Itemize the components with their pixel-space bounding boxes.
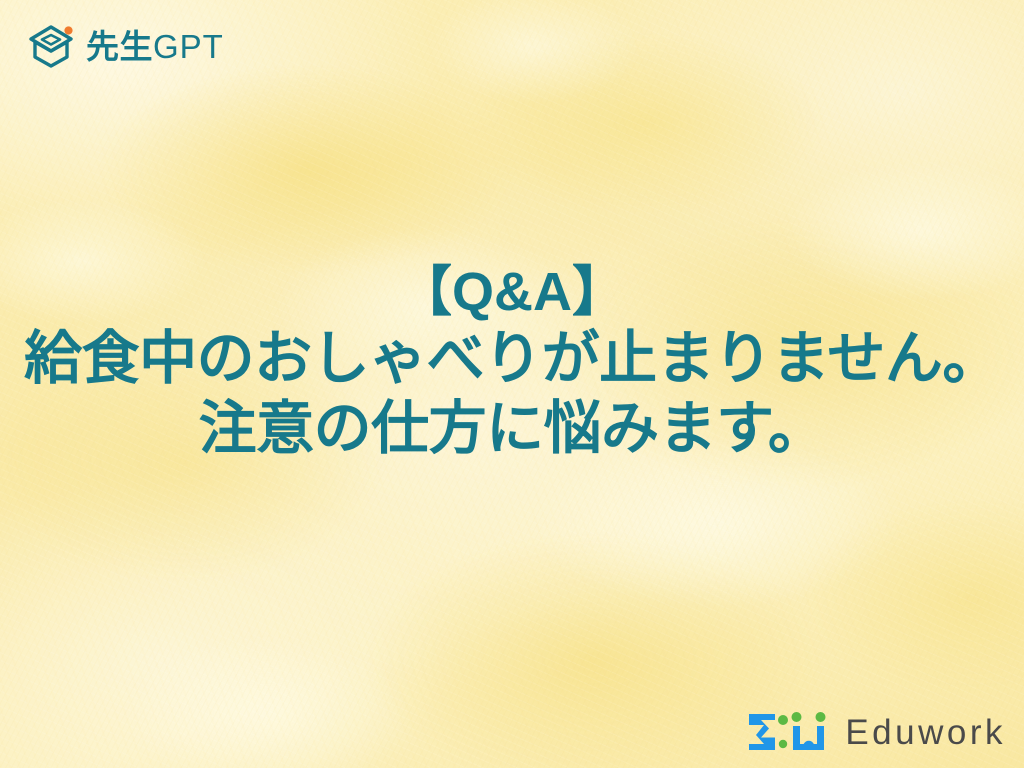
eduwork-wordmark: Eduwork bbox=[845, 715, 1006, 750]
headline-line-2: 給食中のおしゃべりが止まりません。 bbox=[0, 324, 1024, 395]
headline-line-3: 注意の仕方に悩みます。 bbox=[0, 394, 1024, 465]
brand-wordmark-en: GPT bbox=[153, 28, 224, 65]
brand-wordmark-jp: 先生 bbox=[86, 28, 153, 65]
slide-headline: 【Q&A】 給食中のおしゃべりが止まりません。 注意の仕方に悩みます。 bbox=[0, 262, 1024, 465]
graduation-cap-hexagon-icon bbox=[26, 22, 76, 70]
brand-logo: 先生GPT bbox=[26, 22, 224, 70]
brand-wordmark: 先生GPT bbox=[86, 30, 224, 63]
slide-canvas: 先生GPT 【Q&A】 給食中のおしゃべりが止まりません。 注意の仕方に悩みます… bbox=[0, 0, 1024, 768]
eduwork-logo: Eduwork bbox=[745, 708, 1006, 756]
eduwork-mark-icon bbox=[745, 708, 831, 756]
headline-line-1: 【Q&A】 bbox=[0, 262, 1024, 324]
